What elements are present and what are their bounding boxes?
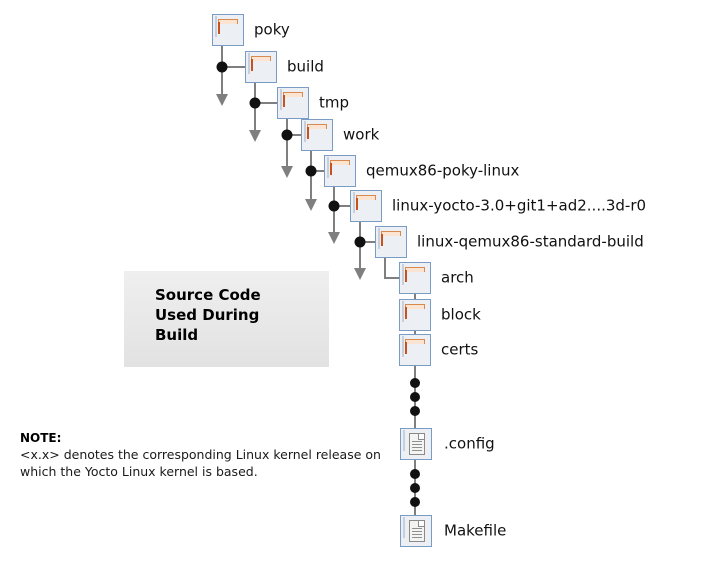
tree-node-poky[interactable]: poky bbox=[212, 14, 244, 46]
ellipsis-dot bbox=[410, 469, 420, 479]
tree-node-label: .config bbox=[444, 436, 495, 453]
tree-node-qemux86-poky-linux[interactable]: qemux86-poky-linux bbox=[324, 155, 356, 187]
tree-node-work[interactable]: work bbox=[301, 119, 333, 151]
tree-node-label: certs bbox=[441, 342, 478, 359]
branch-dot-poky bbox=[217, 62, 228, 73]
tree-node-label: qemux86-poky-linux bbox=[366, 163, 519, 180]
tree-node-certs[interactable]: certs bbox=[399, 334, 431, 366]
folder-icon bbox=[212, 14, 244, 46]
branch-dot-tmp bbox=[282, 130, 293, 141]
ellipsis-config-makefile bbox=[410, 469, 420, 507]
ellipsis-dot bbox=[410, 483, 420, 493]
tree-node-config[interactable]: .config bbox=[400, 428, 432, 460]
tree-node-block[interactable]: block bbox=[399, 299, 431, 331]
file-icon bbox=[400, 515, 432, 547]
edge-standard-to-arch bbox=[385, 258, 399, 278]
tree-node-label: linux-yocto-3.0+git1+ad2....3d-r0 bbox=[392, 198, 646, 215]
tree-node-label: work bbox=[343, 127, 379, 144]
tree-node-arch[interactable]: arch bbox=[399, 262, 431, 294]
folder-icon bbox=[399, 299, 431, 331]
note-body: <x.x> denotes the corresponding Linux ke… bbox=[20, 446, 390, 480]
folder-icon bbox=[301, 119, 333, 151]
folder-icon bbox=[324, 155, 356, 187]
tree-node-makefile[interactable]: Makefile bbox=[400, 515, 432, 547]
tree-node-label: Makefile bbox=[444, 523, 506, 540]
ellipsis-dot bbox=[410, 497, 420, 507]
ellipsis-dot bbox=[410, 406, 420, 416]
branch-dot-work bbox=[306, 166, 317, 177]
tree-node-build[interactable]: build bbox=[245, 51, 277, 83]
folder-icon bbox=[399, 262, 431, 294]
tree-node-label: poky bbox=[254, 22, 290, 39]
folder-icon bbox=[350, 190, 382, 222]
tree-node-tmp[interactable]: tmp bbox=[277, 87, 309, 119]
branch-dot-qemux86 bbox=[329, 201, 340, 212]
branch-dot-build bbox=[250, 98, 261, 109]
tree-node-linux-qemux86-standard-build[interactable]: linux-qemux86-standard-build bbox=[375, 226, 407, 258]
note-block: NOTE: <x.x> denotes the corresponding Li… bbox=[20, 430, 390, 480]
folder-icon bbox=[399, 334, 431, 366]
tree-node-label: build bbox=[287, 59, 324, 76]
folder-icon bbox=[245, 51, 277, 83]
tree-node-linux-yocto[interactable]: linux-yocto-3.0+git1+ad2....3d-r0 bbox=[350, 190, 382, 222]
folder-icon bbox=[277, 87, 309, 119]
ellipsis-dot bbox=[410, 378, 420, 388]
tree-node-label: linux-qemux86-standard-build bbox=[417, 234, 644, 251]
connector-layer bbox=[0, 0, 705, 581]
tree-node-label: tmp bbox=[319, 95, 349, 112]
kernel-source-tree-diagram: poky build tmp work bbox=[0, 0, 705, 581]
tree-node-label: arch bbox=[441, 270, 474, 287]
branch-dot-linuxyocto bbox=[355, 237, 366, 248]
file-icon bbox=[400, 428, 432, 460]
ellipsis-certs-config bbox=[410, 378, 420, 416]
source-code-callout-box: Source Code Used During Build bbox=[124, 271, 329, 367]
callout-text: Source Code Used During Build bbox=[155, 285, 261, 345]
tree-node-label: block bbox=[441, 307, 481, 324]
ellipsis-dot bbox=[410, 392, 420, 402]
folder-icon bbox=[375, 226, 407, 258]
note-title: NOTE: bbox=[20, 430, 390, 446]
